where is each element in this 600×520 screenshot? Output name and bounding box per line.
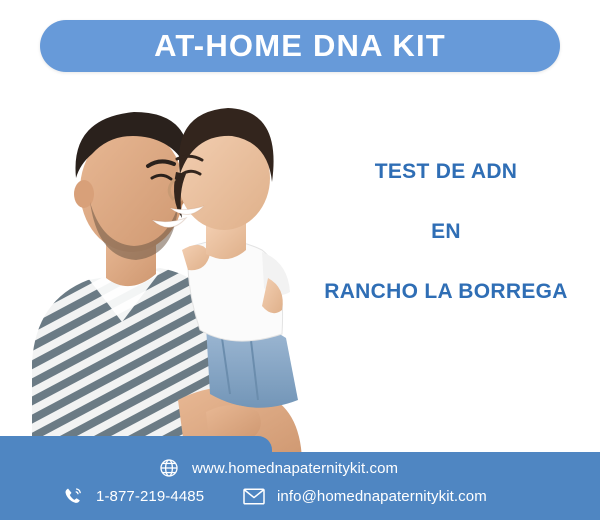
globe-icon: [158, 457, 180, 479]
headline-block: TEST DE ADN EN RANCHO LA BORREGA: [296, 160, 596, 303]
footer-website[interactable]: www.homednapaternitykit.com: [158, 457, 398, 479]
headline-line-3: RANCHO LA BORREGA: [296, 280, 596, 303]
footer-email[interactable]: info@homednapaternitykit.com: [243, 485, 487, 507]
family-photo-illustration: [10, 82, 330, 460]
envelope-icon: [243, 485, 265, 507]
headline-line-1: TEST DE ADN: [296, 160, 596, 183]
poster-root: AT-HOME DNA KIT: [0, 0, 600, 520]
title-banner-text: AT-HOME DNA KIT: [154, 28, 446, 64]
headline-line-2: EN: [296, 220, 596, 243]
title-banner: AT-HOME DNA KIT: [40, 20, 560, 72]
man-ear: [74, 180, 94, 208]
footer-email-label: info@homednapaternitykit.com: [277, 488, 487, 505]
footer-phone[interactable]: 1-877-219-4485: [62, 485, 204, 507]
family-photo: [10, 82, 330, 460]
footer-phone-label: 1-877-219-4485: [96, 488, 204, 505]
footer-website-label: www.homednapaternitykit.com: [192, 460, 398, 477]
phone-icon: [62, 485, 84, 507]
